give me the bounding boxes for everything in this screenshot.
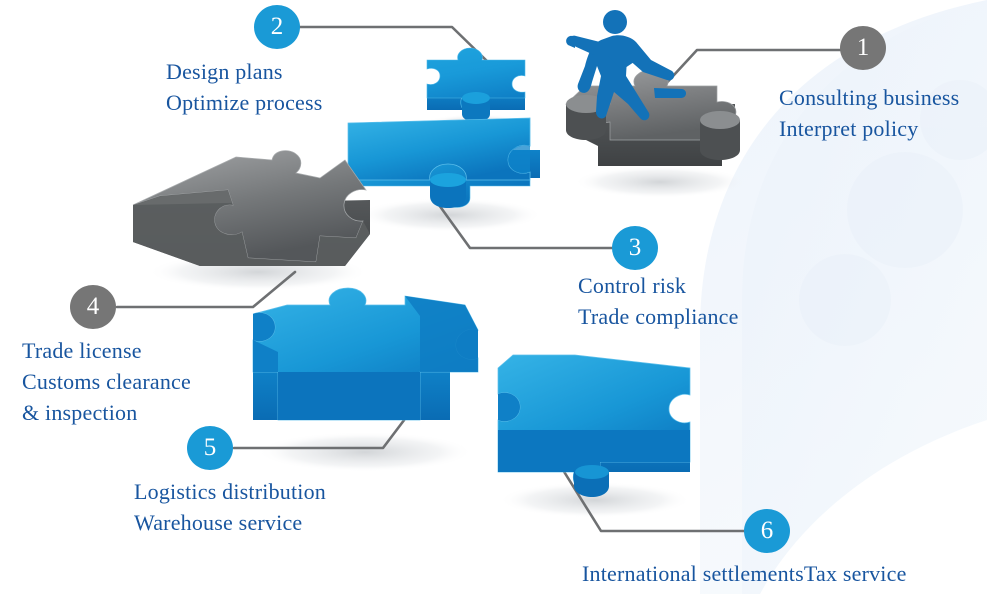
step-label-2-line-2: Optimize process [166, 87, 323, 118]
puzzle-piece-2[interactable] [427, 48, 525, 122]
step-badge-5[interactable]: 5 [187, 426, 233, 470]
step-label-5-line-2: Warehouse service [134, 507, 326, 538]
puzzle-piece-6[interactable] [498, 355, 690, 497]
step-label-4-line-1: Trade license [22, 335, 191, 366]
step-badge-3-number: 3 [629, 235, 642, 260]
step-badge-6[interactable]: 6 [744, 509, 790, 553]
step-badge-1-number: 1 [857, 35, 870, 60]
step-badge-1[interactable]: 1 [840, 26, 886, 70]
step-badge-6-number: 6 [761, 518, 774, 543]
step-badge-3[interactable]: 3 [612, 226, 658, 270]
step-badge-2[interactable]: 2 [254, 5, 300, 49]
step-label-5: Logistics distribution Warehouse service [134, 476, 326, 538]
puzzle-piece-5[interactable] [253, 288, 478, 420]
puzzle-piece-4[interactable] [133, 151, 370, 266]
puzzle-piece-3[interactable] [348, 118, 540, 208]
step-label-4-line-3: & inspection [22, 397, 191, 428]
step-label-4-line-2: Customs clearance [22, 366, 191, 397]
step-label-6-line-1: International settlementsTax service [582, 558, 907, 589]
step-badge-4-number: 4 [87, 294, 100, 319]
step-label-4: Trade license Customs clearance & inspec… [22, 335, 191, 428]
step-label-3-line-1: Control risk [578, 270, 739, 301]
step-label-3-line-2: Trade compliance [578, 301, 739, 332]
step-label-3: Control risk Trade compliance [578, 270, 739, 332]
puzzle-piece-1[interactable] [566, 70, 740, 166]
step-badge-2-number: 2 [271, 14, 284, 39]
infographic-canvas: 1 2 3 4 5 6 Consulting business Interpre… [0, 0, 987, 594]
step-label-2: Design plans Optimize process [166, 56, 323, 118]
step-label-1: Consulting business Interpret policy [779, 82, 959, 144]
step-label-2-line-1: Design plans [166, 56, 323, 87]
step-label-5-line-1: Logistics distribution [134, 476, 326, 507]
step-badge-5-number: 5 [204, 435, 217, 460]
step-label-1-line-1: Consulting business [779, 82, 959, 113]
step-label-1-line-2: Interpret policy [779, 113, 959, 144]
step-badge-4[interactable]: 4 [70, 285, 116, 329]
step-label-6: International settlementsTax service [582, 558, 907, 589]
